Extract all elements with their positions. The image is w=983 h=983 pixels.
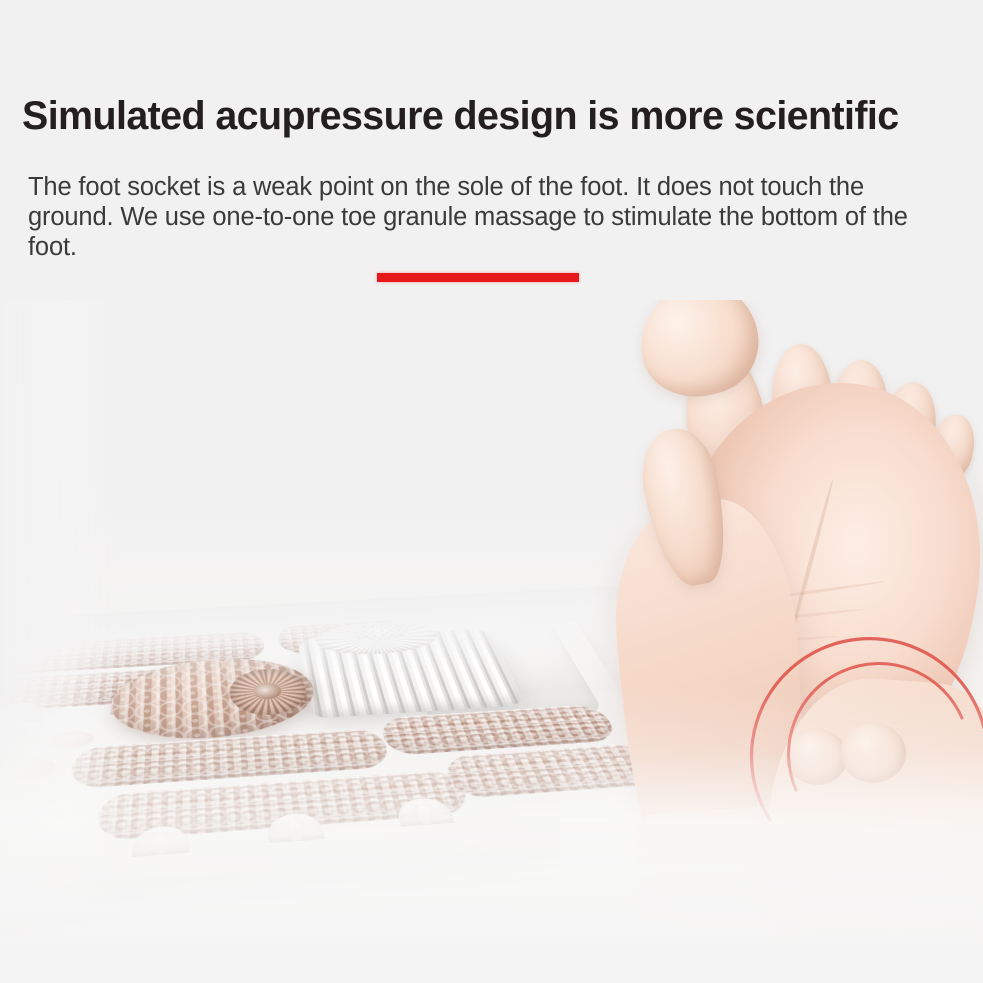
foot-massage-photo bbox=[600, 320, 983, 983]
feature-image-stage bbox=[0, 300, 983, 983]
right-wrist bbox=[788, 864, 979, 983]
description-paragraph: The foot socket is a weak point on the s… bbox=[28, 172, 948, 262]
red-accent-rule bbox=[377, 273, 579, 282]
page-title: Simulated acupressure design is more sci… bbox=[22, 93, 953, 139]
grey-ribbed-roller bbox=[297, 628, 525, 719]
product-feature-panel: Simulated acupressure design is more sci… bbox=[0, 0, 983, 983]
knuckle bbox=[838, 721, 908, 785]
roller-knob bbox=[350, 623, 411, 642]
